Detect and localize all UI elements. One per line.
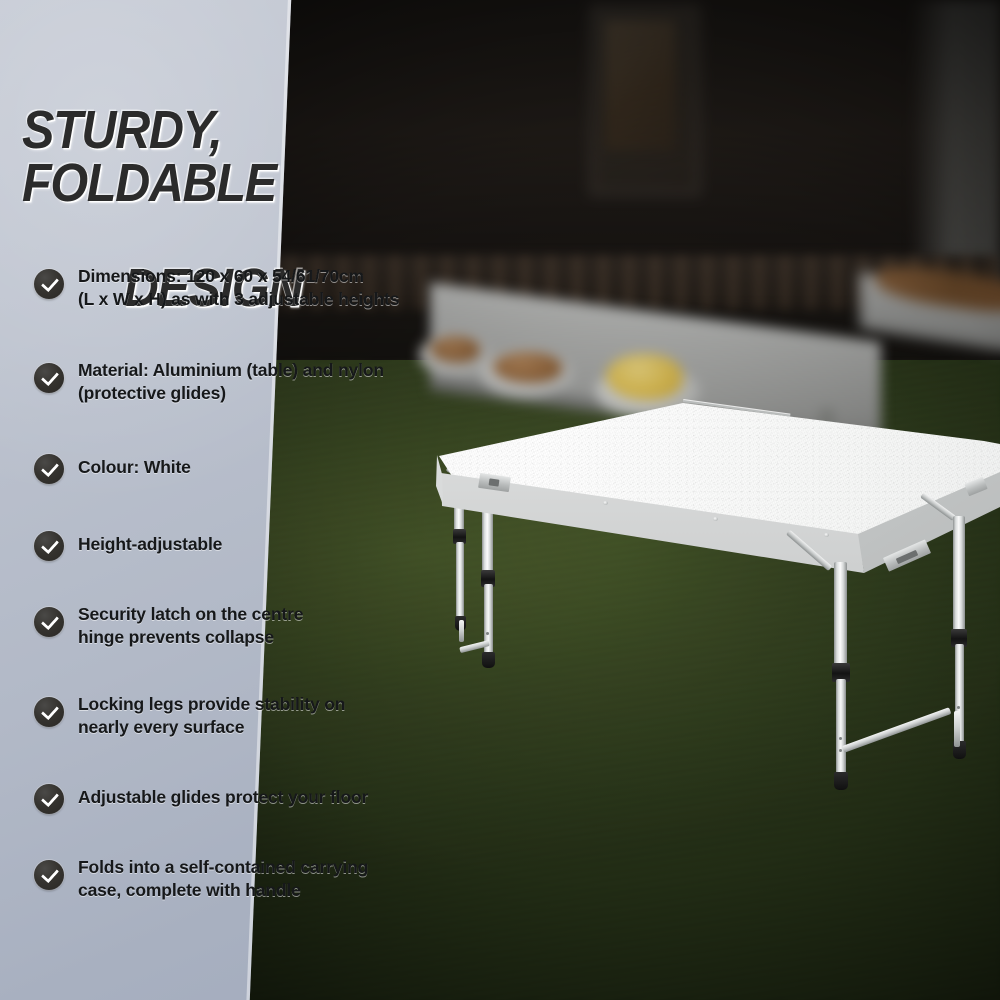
list-item-security-latch: Security latch on the centre hinge preve… xyxy=(34,601,303,649)
product-feature-image: STURDY, FOLDABLE DESIGN Dimensions: 120 … xyxy=(0,0,1000,1000)
height-adjust-hole xyxy=(839,749,842,752)
table-leg-front-right-lower xyxy=(836,679,847,778)
list-item-line-2: nearly every surface xyxy=(78,717,244,737)
list-item-label: Folds into a self-contained carrying cas… xyxy=(78,854,368,902)
list-item-height-adjustable: Height-adjustable xyxy=(34,531,222,561)
list-item-line-1: Locking legs provide stability on xyxy=(78,694,345,714)
list-item-colour: Colour: White xyxy=(34,454,191,484)
list-item-line-1: Material: Aluminium (table) and nylon xyxy=(78,360,384,380)
list-item-dimensions: Dimensions: 120 x 60 x 54/61/70cm (L x W… xyxy=(34,263,399,311)
check-circle-icon xyxy=(34,860,64,890)
rail-rivet xyxy=(824,533,829,537)
list-item-locking-legs: Locking legs provide stability on nearly… xyxy=(34,691,345,739)
page-title: STURDY, FOLDABLE DESIGN xyxy=(22,52,445,366)
list-item-label: Locking legs provide stability on nearly… xyxy=(78,691,345,739)
height-adjust-hole xyxy=(839,737,842,740)
list-item-line-2: (protective glides) xyxy=(78,383,226,403)
list-item-line-1: Dimensions: 120 x 60 x 54/61/70cm xyxy=(78,266,364,286)
check-circle-icon xyxy=(34,363,64,393)
list-item-line-2: case, complete with handle xyxy=(78,880,301,900)
check-circle-icon xyxy=(34,607,64,637)
centre-hinge-pin xyxy=(489,478,500,486)
list-item-label: Colour: White xyxy=(78,454,191,479)
list-item-material: Material: Aluminium (table) and nylon (p… xyxy=(34,357,384,405)
list-item-label: Material: Aluminium (table) and nylon (p… xyxy=(78,357,384,405)
list-item-label: Height-adjustable xyxy=(78,531,222,556)
list-item-adjustable-glides: Adjustable glides protect your floor xyxy=(34,784,368,814)
check-circle-icon xyxy=(34,269,64,299)
check-circle-icon xyxy=(34,454,64,484)
height-adjust-hole xyxy=(957,706,960,709)
rail-rivet xyxy=(713,517,718,521)
table-leg-front-right-upper xyxy=(834,562,847,667)
list-item-label: Security latch on the centre hinge preve… xyxy=(78,601,303,649)
list-item-label: Adjustable glides protect your floor xyxy=(78,784,368,809)
check-circle-icon xyxy=(34,531,64,561)
list-item-line-2: hinge prevents collapse xyxy=(78,627,274,647)
leg-cross-brace-corner xyxy=(954,711,960,747)
check-circle-icon xyxy=(34,697,64,727)
check-circle-icon xyxy=(34,784,64,814)
rail-rivet xyxy=(603,501,608,505)
page-title-line-1: STURDY, FOLDABLE xyxy=(22,104,445,209)
leg-foot-glide xyxy=(834,772,848,790)
list-item-carrying-case: Folds into a self-contained carrying cas… xyxy=(34,854,368,902)
list-item-label: Dimensions: 120 x 60 x 54/61/70cm (L x W… xyxy=(78,263,399,311)
list-item-line-1: Folds into a self-contained carrying xyxy=(78,857,368,877)
list-item-line-2: (L x W x H) as with 3 adjustable heights xyxy=(78,289,399,309)
table-leg-back-right-upper xyxy=(953,516,965,633)
list-item-line-1: Security latch on the centre xyxy=(78,604,303,624)
